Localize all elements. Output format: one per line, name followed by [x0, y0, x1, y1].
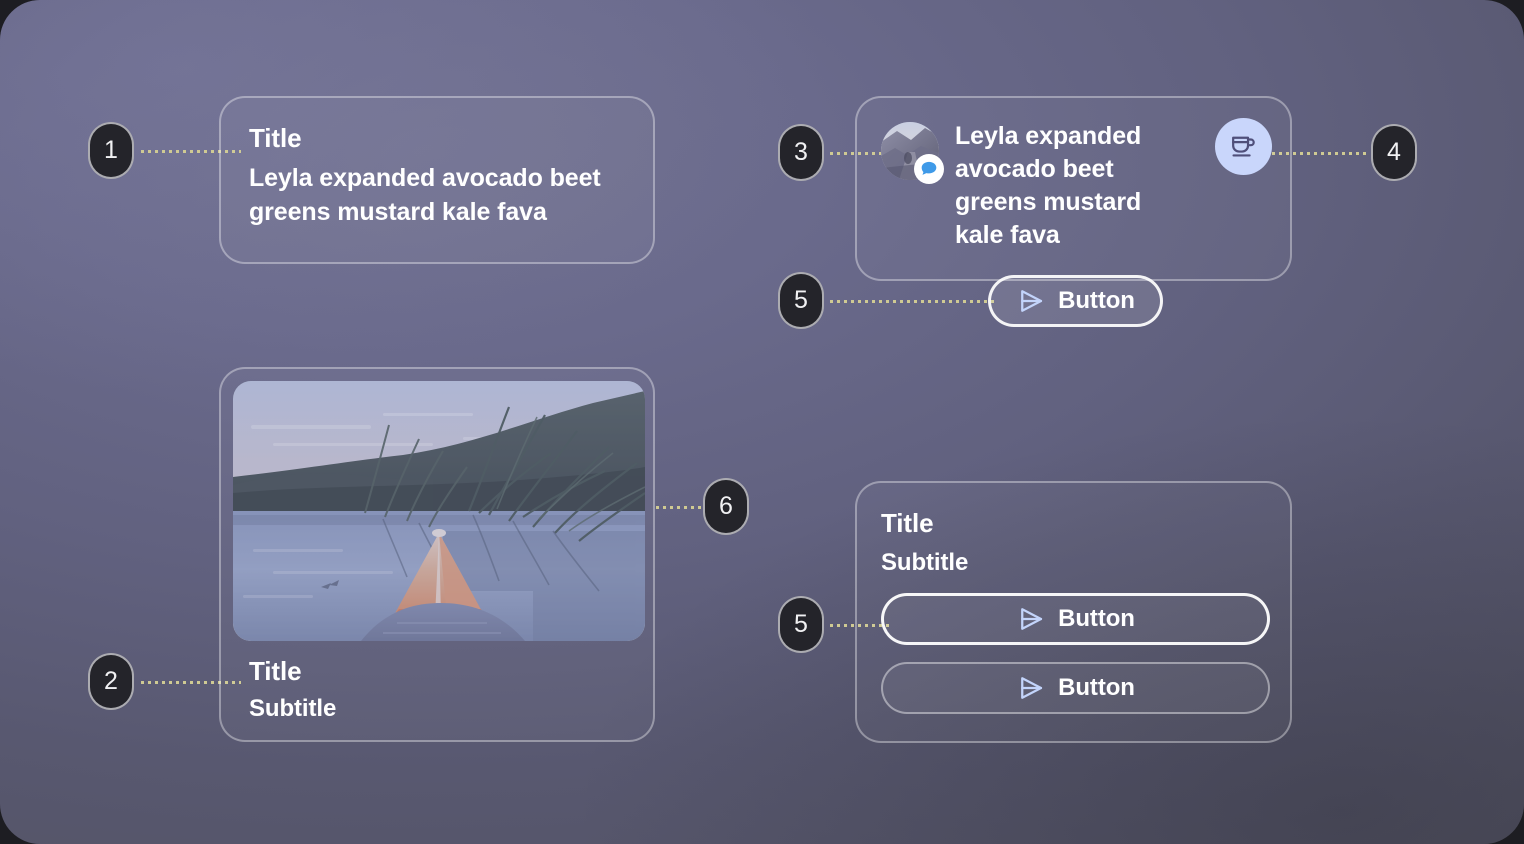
- annotation-badge-3[interactable]: 3: [778, 124, 824, 181]
- media-card-meta: Title Subtitle: [233, 641, 641, 722]
- annotation-badge-number: 2: [104, 667, 118, 696]
- avatar[interactable]: [881, 122, 939, 180]
- connector-6: [656, 506, 706, 509]
- annotation-badge-number: 6: [719, 492, 733, 521]
- annotation-badge-2[interactable]: 2: [88, 653, 134, 710]
- coffee-cup-icon[interactable]: [1215, 118, 1272, 175]
- actions-card-secondary-button[interactable]: Button: [881, 662, 1270, 714]
- profile-card[interactable]: Leyla expanded avocado beet greens musta…: [855, 96, 1292, 281]
- media-card-subtitle: Subtitle: [249, 696, 625, 722]
- annotation-badge-5[interactable]: 5: [778, 272, 824, 329]
- actions-card-primary-button[interactable]: Button: [881, 593, 1270, 645]
- annotation-badge-number: 5: [794, 610, 808, 639]
- annotation-badge-number: 5: [794, 286, 808, 315]
- connector-5: [830, 300, 995, 303]
- floating-pill-button-label: Button: [1058, 287, 1135, 315]
- annotation-badge-5b[interactable]: 5: [778, 596, 824, 653]
- annotation-canvas: 1 2 3 4 5 5 6 Title Leyla expanded avoca…: [0, 0, 1524, 844]
- media-card[interactable]: Title Subtitle: [219, 367, 655, 742]
- actions-card[interactable]: Title Subtitle Button Button: [855, 481, 1292, 743]
- send-icon: [1016, 673, 1046, 703]
- actions-card-title: Title: [881, 509, 1266, 538]
- annotation-badge-number: 1: [104, 136, 118, 165]
- profile-row: Leyla expanded avocado beet greens musta…: [881, 120, 1268, 252]
- text-card[interactable]: Title Leyla expanded avocado beet greens…: [219, 96, 655, 264]
- chat-bubble-icon: [914, 154, 944, 184]
- annotation-badge-number: 4: [1387, 138, 1401, 167]
- annotation-badge-number: 3: [794, 138, 808, 167]
- text-card-title: Title: [249, 124, 625, 154]
- actions-card-subtitle: Subtitle: [881, 550, 1266, 576]
- actions-card-secondary-button-label: Button: [1058, 674, 1135, 702]
- actions-card-primary-button-label: Button: [1058, 605, 1135, 633]
- media-card-thumbnail[interactable]: [233, 381, 645, 641]
- annotation-badge-6[interactable]: 6: [703, 478, 749, 535]
- send-icon: [1016, 604, 1046, 634]
- text-card-body: Leyla expanded avocado beet greens musta…: [249, 162, 625, 230]
- send-icon: [1016, 286, 1046, 316]
- media-card-title: Title: [249, 657, 625, 686]
- profile-card-text: Leyla expanded avocado beet greens musta…: [955, 120, 1195, 252]
- annotation-badge-4[interactable]: 4: [1371, 124, 1417, 181]
- floating-pill-button[interactable]: Button: [988, 275, 1163, 327]
- annotation-badge-1[interactable]: 1: [88, 122, 134, 179]
